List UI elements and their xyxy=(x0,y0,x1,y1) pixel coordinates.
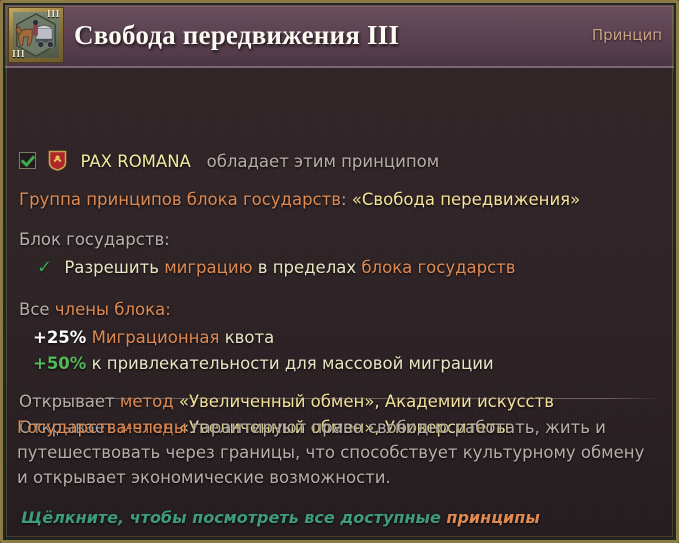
owner-line: PAX ROMANA обладает этим принципом xyxy=(19,150,439,171)
effect-value: +25% xyxy=(33,328,86,347)
unlock-line: Открывает метод «Увеличенный обмен», Ака… xyxy=(19,394,554,411)
description-lead: Государства-члены xyxy=(17,418,187,437)
tooltip-body: PAX ROMANA обладает этим принципом Групп… xyxy=(3,68,676,541)
red-shield-crest-icon xyxy=(48,150,67,171)
checkmark-icon: ✓ xyxy=(37,257,52,278)
owner-text: обладает этим принципом xyxy=(207,152,440,171)
unlock-verb: Открывает xyxy=(19,392,115,411)
effect-name: Миграционная xyxy=(92,328,220,347)
footer-hint-highlight: принципы xyxy=(446,508,539,527)
members-heading-main: члены блока xyxy=(55,300,165,319)
effect-suffix: к привлекательности для массовой миграци… xyxy=(92,354,494,373)
bloc-effect-object: миграцию xyxy=(164,258,252,277)
members-heading: Все члены блока: xyxy=(19,302,171,319)
unlock-kind: метод xyxy=(120,392,174,411)
bloc-effect-middle: в пределах xyxy=(258,258,356,277)
tier-numeral-top: III xyxy=(47,10,60,20)
bloc-effect-verb: Разрешить xyxy=(64,258,159,277)
bloc-effect-line: ✓ Разрешить миграцию в пределах блока го… xyxy=(37,259,516,277)
principle-group-line: Группа принципов блока государств: «Своб… xyxy=(19,192,580,209)
members-effect-row: +25% Миграционная квота xyxy=(33,330,274,347)
bloc-effect-target: блока государств xyxy=(361,258,515,277)
covered-wagon-icon: III III xyxy=(8,7,64,63)
principle-group-colon: : xyxy=(341,190,347,209)
owner-nation: PAX ROMANA xyxy=(81,152,191,171)
effect-suffix: квота xyxy=(225,328,275,347)
category-label: Принцип xyxy=(592,26,662,44)
members-heading-colon: : xyxy=(165,300,171,319)
checkbox-checked-icon xyxy=(19,152,36,169)
tier-numeral-bottom: III xyxy=(12,50,25,60)
effect-value: +50% xyxy=(33,354,86,373)
members-effect-row: +50% к привлекательности для массовой ми… xyxy=(33,356,494,373)
principle-group-label: Группа принципов блока государств xyxy=(19,190,341,209)
principle-tooltip[interactable]: III III Свобода передвижения III Принцип… xyxy=(0,0,679,543)
description-paragraph: Государства-члены гарантируют право своб… xyxy=(17,415,660,490)
footer-hint-text: Щёлкните, чтобы посмотреть все доступные xyxy=(21,508,446,527)
bloc-heading: Блок государств: xyxy=(19,232,170,249)
tooltip-header: III III Свобода передвижения III Принцип xyxy=(3,3,676,68)
unlock-name: «Увеличенный обмен», Академии искусств xyxy=(179,392,554,411)
members-heading-prefix: Все xyxy=(19,300,50,319)
section-divider xyxy=(17,398,662,399)
principle-group-value: «Свобода передвижения» xyxy=(352,190,580,209)
footer-hint[interactable]: Щёлкните, чтобы посмотреть все доступные… xyxy=(21,508,540,527)
page-title: Свобода передвижения III xyxy=(74,20,399,51)
